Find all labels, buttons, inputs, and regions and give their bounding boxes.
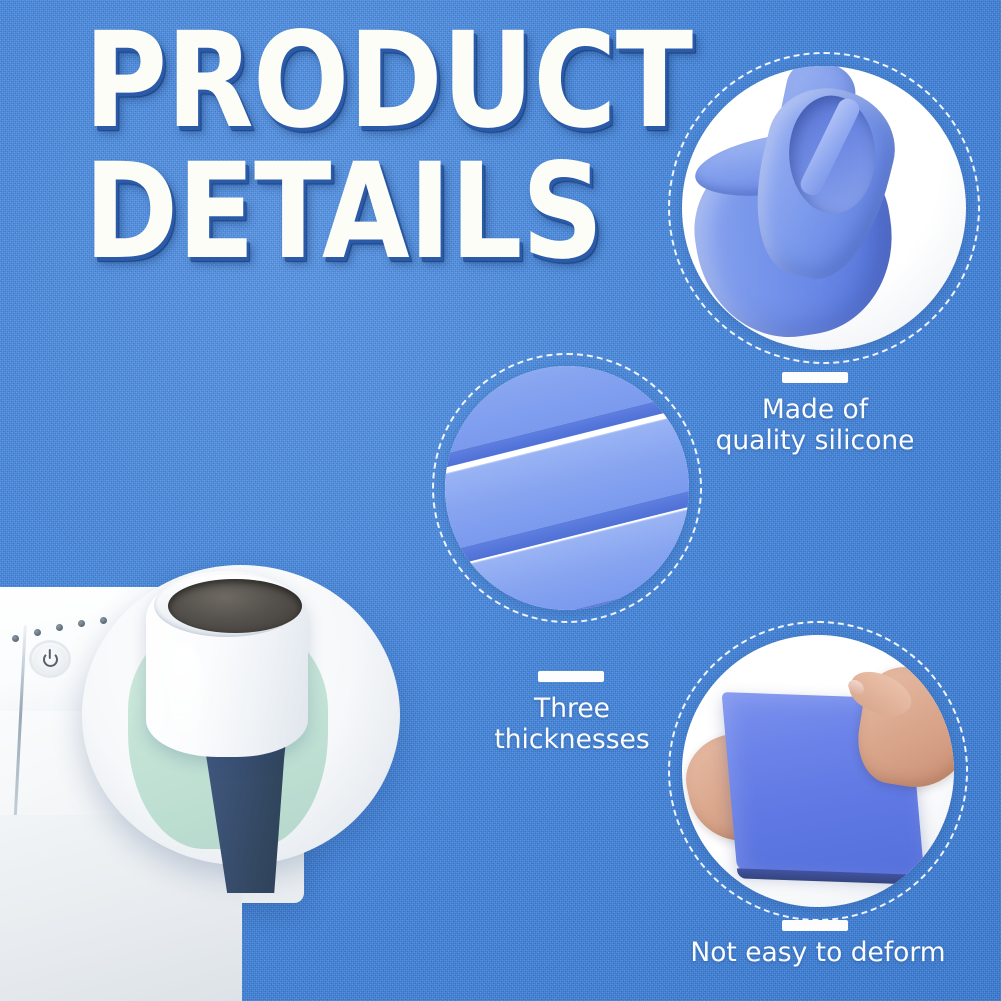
feature-caption-not-easy-to-deform: Not easy to deform xyxy=(668,938,968,969)
page-title-line-1: PRODUCT xyxy=(84,18,566,145)
right-fingernail xyxy=(845,677,866,698)
rolled-silicone-mat-photo xyxy=(682,66,966,350)
power-button[interactable] xyxy=(32,643,68,675)
power-icon xyxy=(43,652,58,667)
stacked-silicone-sheets-photo xyxy=(445,366,689,610)
steel-mug xyxy=(146,571,308,757)
feature-three-thicknesses xyxy=(432,353,702,623)
hands-flexing-silicone-sheet-photo xyxy=(682,635,954,907)
feature-made-of-quality-silicone xyxy=(668,52,980,364)
mug-interior xyxy=(168,579,302,633)
feature-caption-three-thicknesses: Three thicknesses xyxy=(447,694,697,755)
led-indicator-1 xyxy=(12,635,19,642)
caption-divider-bar-2 xyxy=(538,671,604,682)
mug-rim xyxy=(154,573,300,637)
page-title: PRODUCT DETAILS xyxy=(84,18,644,275)
product-details-infographic: PRODUCT DETAILS Made of quality silicone xyxy=(0,0,1001,1001)
caption-divider-bar-3 xyxy=(782,920,848,931)
led-indicator-5 xyxy=(100,617,107,624)
led-indicator-3 xyxy=(56,624,63,631)
caption-divider-bar-1 xyxy=(782,372,848,383)
feature-not-easy-to-deform xyxy=(668,621,968,921)
led-indicator-2 xyxy=(34,629,41,636)
mug-heat-press xyxy=(0,565,404,1001)
mug-highlight xyxy=(168,645,202,741)
led-indicator-4 xyxy=(78,620,85,627)
page-title-line-2: DETAILS xyxy=(84,149,566,276)
feature-caption-made-of-quality-silicone: Made of quality silicone xyxy=(690,395,940,456)
